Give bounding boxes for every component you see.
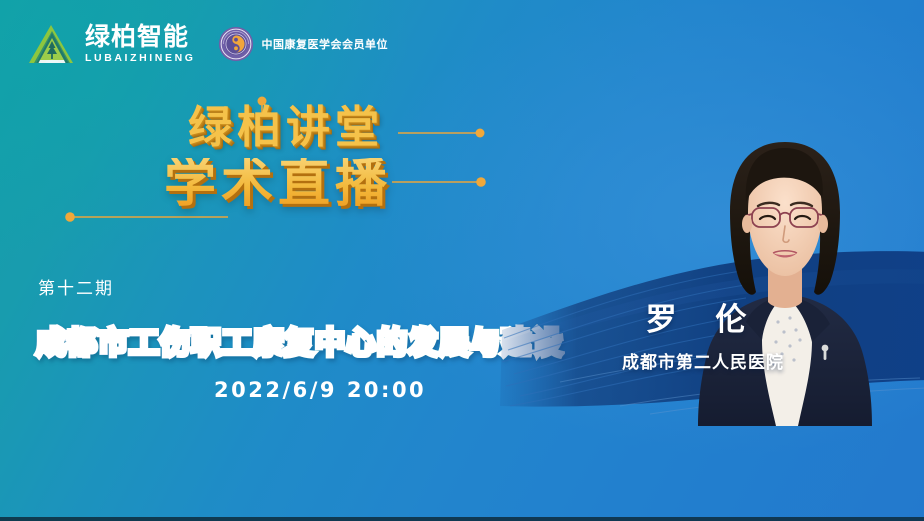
key-visual-title: 绿柏讲堂 学术直播 bbox=[188, 106, 608, 210]
speaker-name: 罗 伦 bbox=[588, 305, 818, 336]
key-visual-line-1: 绿柏讲堂 bbox=[188, 106, 608, 150]
live-stream-poster: 绿柏智能 LUBAIZHINENG 中国康复医学会会员单位 bbox=[0, 0, 924, 521]
broadcast-datetime: 2022/6/9 20:00 bbox=[214, 378, 426, 402]
speaker-portrait bbox=[690, 126, 880, 426]
mountain-tree-logo-icon bbox=[28, 22, 76, 66]
poster-header: 绿柏智能 LUBAIZHINENG 中国康复医学会会员单位 bbox=[28, 22, 388, 66]
brand-name-cn: 绿柏智能 bbox=[85, 24, 196, 49]
brand-text-block: 绿柏智能 LUBAIZHINENG bbox=[85, 24, 196, 64]
key-visual-line-2: 学术直播 bbox=[164, 158, 608, 210]
brand-lockup: 绿柏智能 LUBAIZHINENG bbox=[28, 22, 196, 66]
association-seal-icon bbox=[218, 26, 254, 62]
episode-label: 第十二期 bbox=[38, 274, 114, 299]
association-lockup: 中国康复医学会会员单位 bbox=[218, 26, 389, 62]
speaker-info: 罗 伦 成都市第二人民医院 bbox=[588, 305, 818, 373]
session-title: 成都市工伤职工康复中心的发展与建设 bbox=[36, 318, 563, 362]
speaker-organization: 成都市第二人民医院 bbox=[588, 348, 818, 373]
decor-dot-left bbox=[65, 212, 75, 222]
brand-name-en: LUBAIZHINENG bbox=[85, 53, 196, 64]
association-label: 中国康复医学会会员单位 bbox=[262, 36, 389, 52]
bottom-strip bbox=[0, 517, 924, 521]
